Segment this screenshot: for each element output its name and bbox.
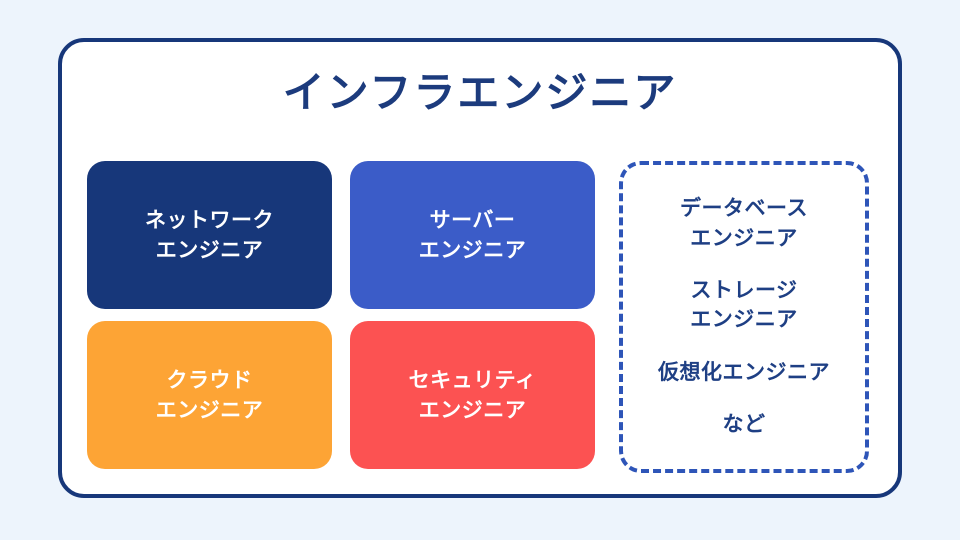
- role-box-server-engineer[interactable]: サーバー エンジニア: [350, 161, 595, 309]
- role-label-security-engineer: セキュリティ エンジニア: [409, 365, 537, 426]
- other-role-database-engineer: データベース エンジニア: [680, 194, 808, 253]
- role-label-network-engineer: ネットワーク エンジニア: [145, 205, 274, 266]
- other-role-virtualization-engineer: 仮想化エンジニア: [658, 358, 830, 387]
- role-box-network-engineer[interactable]: ネットワーク エンジニア: [87, 161, 332, 309]
- diagram-card: インフラエンジニア ネットワーク エンジニア サーバー エンジニア クラウド エ…: [58, 38, 902, 498]
- role-box-security-engineer[interactable]: セキュリティ エンジニア: [350, 321, 595, 469]
- role-box-cloud-engineer[interactable]: クラウド エンジニア: [87, 321, 332, 469]
- page-title: インフラエンジニア: [62, 70, 898, 116]
- role-label-cloud-engineer: クラウド エンジニア: [156, 365, 264, 426]
- other-roles-dashed-box: データベース エンジニア ストレージ エンジニア 仮想化エンジニア など: [619, 161, 869, 473]
- role-label-server-engineer: サーバー エンジニア: [419, 205, 527, 266]
- diagram-canvas: インフラエンジニア ネットワーク エンジニア サーバー エンジニア クラウド エ…: [0, 0, 960, 540]
- role-box-grid: ネットワーク エンジニア サーバー エンジニア クラウド エンジニア セキュリテ…: [87, 161, 622, 473]
- other-role-storage-engineer: ストレージ エンジニア: [690, 276, 798, 335]
- other-role-etc: など: [723, 410, 766, 439]
